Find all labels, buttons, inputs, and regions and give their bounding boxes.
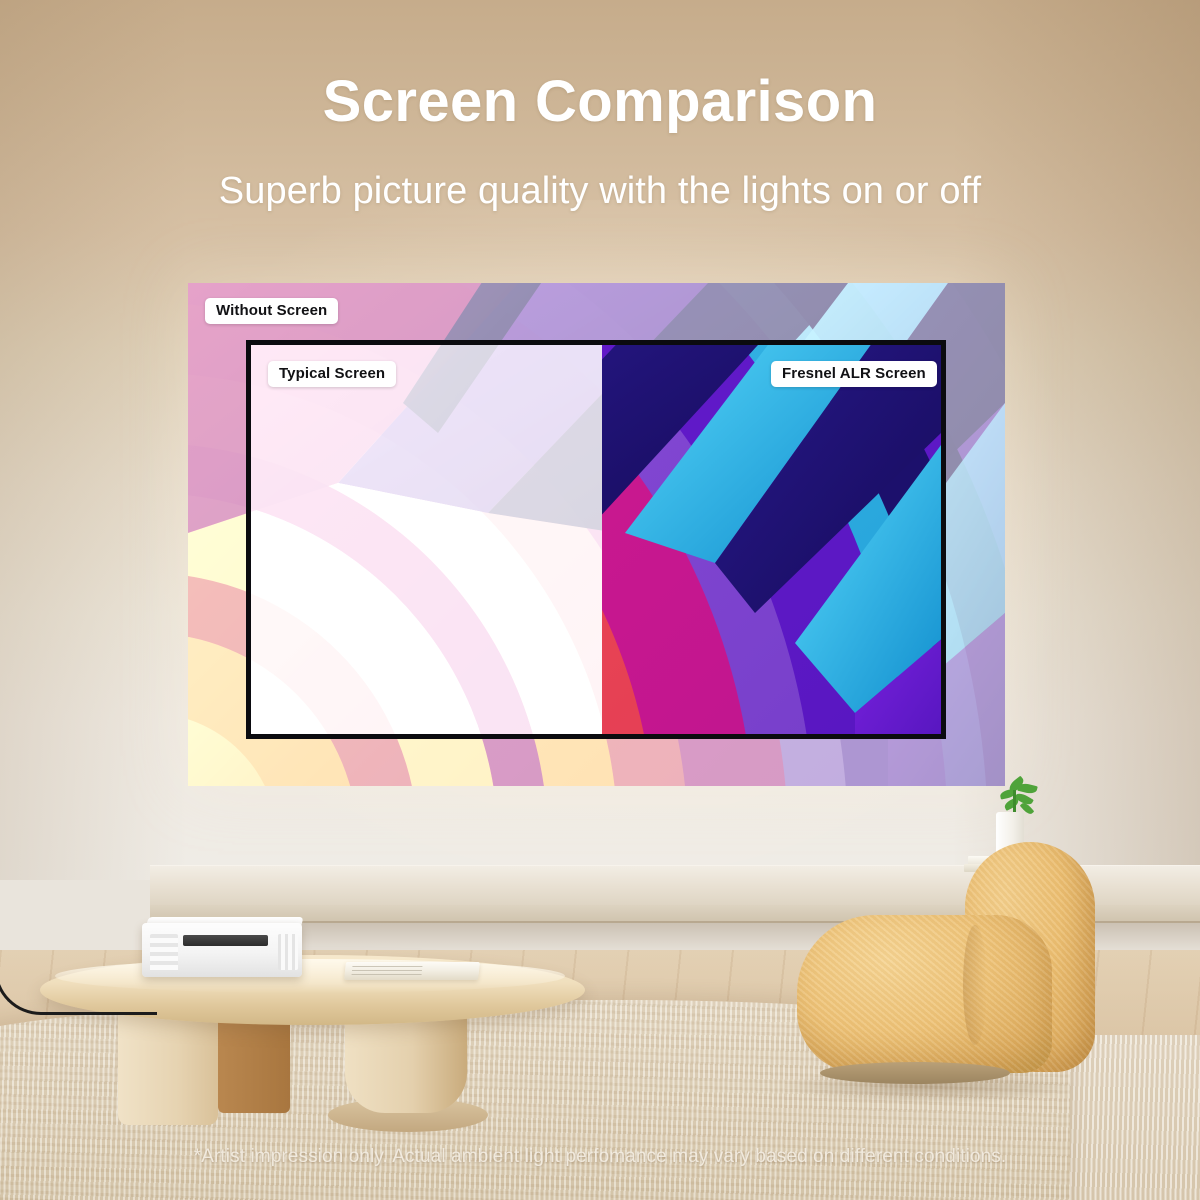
lounge-chair-crease	[963, 925, 987, 1045]
label-without-screen: Without Screen	[205, 298, 338, 324]
lounge-chair-seat-texture	[797, 915, 1052, 1073]
lounge-chair-base	[820, 1062, 1010, 1084]
book-on-table-text	[352, 966, 423, 975]
label-fresnel-alr-screen: Fresnel ALR Screen	[771, 361, 937, 387]
screen-frame	[246, 340, 946, 739]
typical-screen-half	[251, 345, 602, 734]
label-typical-screen: Typical Screen	[268, 361, 396, 387]
screen-comparison-poster: Without Screen Typical Screen Fresnel AL…	[0, 0, 1200, 1200]
projector-vent-right	[278, 934, 298, 970]
vivid-swirl-artwork	[602, 345, 941, 734]
fresnel-alr-half	[602, 345, 941, 734]
page-title: Screen Comparison	[0, 68, 1200, 135]
projector-lens	[183, 935, 268, 946]
screen-inner	[251, 345, 941, 734]
page-subtitle: Superb picture quality with the lights o…	[0, 170, 1200, 213]
vivid-artwork-shift	[602, 345, 941, 734]
projector-vent-left	[150, 934, 178, 972]
disclaimer-footnote: *Artist impression only. Actual ambient …	[0, 1146, 1200, 1168]
